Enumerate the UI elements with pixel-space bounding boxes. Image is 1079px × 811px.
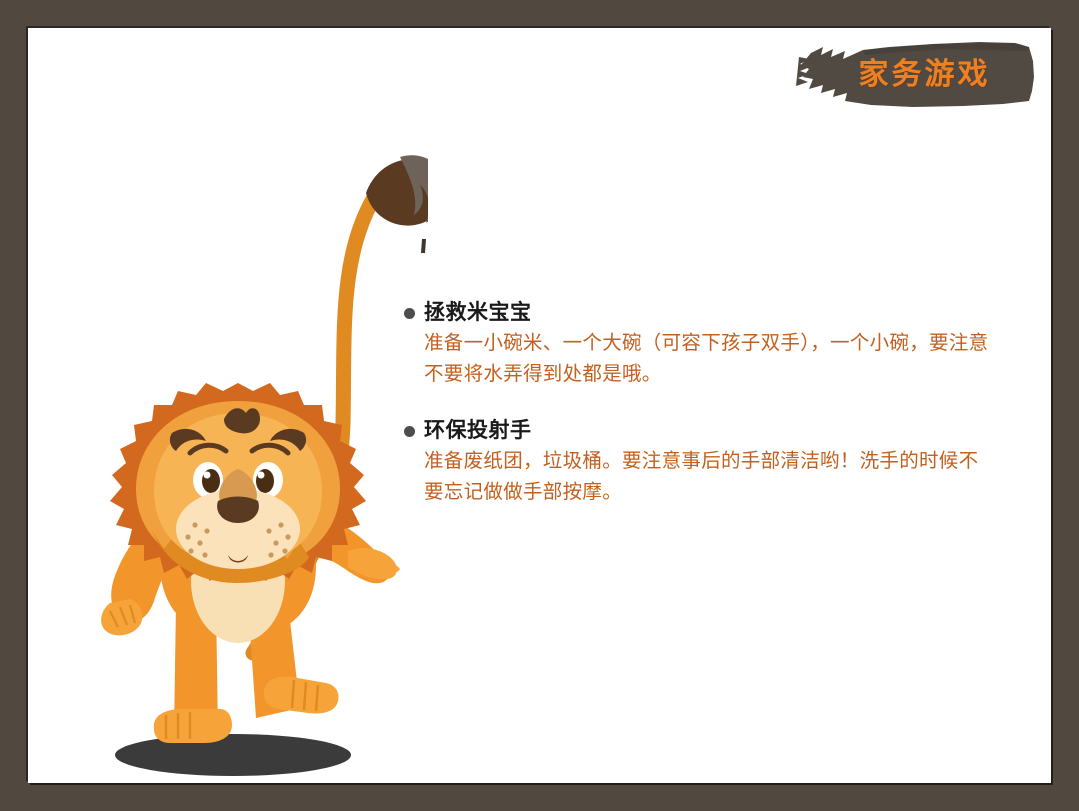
slide-frame: 家务游戏 拯救米宝宝 准备一小碗米、一个大碗（可容下孩子双手），一个小碗，要注意… <box>0 0 1079 811</box>
list-item: 拯救米宝宝 准备一小碗米、一个大碗（可容下孩子双手），一个小碗，要注意不要将水弄… <box>404 298 994 390</box>
lion-ground-shadow <box>115 734 351 776</box>
lion-foot-right <box>264 677 339 714</box>
bullet-icon <box>404 426 415 437</box>
lion-foot-left <box>154 709 232 743</box>
lion-tail-tuft <box>366 155 428 253</box>
item-heading: 拯救米宝宝 <box>424 298 532 328</box>
cartoon-lion-illustration <box>48 133 428 783</box>
bullet-icon <box>404 308 415 319</box>
item-body: 准备废纸团，垃圾桶。要注意事后的手部清洁哟！洗手的时候不要忘记做做手部按摩。 <box>424 446 989 508</box>
banner-brush-shape <box>801 42 1034 107</box>
title-banner: 家务游戏 <box>793 31 1038 111</box>
item-body: 准备一小碗米、一个大碗（可容下孩子双手），一个小碗，要注意不要将水弄得到处都是哦… <box>424 328 989 390</box>
content-list: 拯救米宝宝 准备一小碗米、一个大碗（可容下孩子双手），一个小碗，要注意不要将水弄… <box>404 298 994 534</box>
slide-canvas: 家务游戏 拯救米宝宝 准备一小碗米、一个大碗（可容下孩子双手），一个小碗，要注意… <box>28 28 1051 783</box>
item-heading: 环保投射手 <box>424 416 532 446</box>
list-item: 环保投射手 准备废纸团，垃圾桶。要注意事后的手部清洁哟！洗手的时候不要忘记做做手… <box>404 416 994 508</box>
item-heading-row: 拯救米宝宝 <box>404 298 994 328</box>
item-heading-row: 环保投射手 <box>404 416 994 446</box>
